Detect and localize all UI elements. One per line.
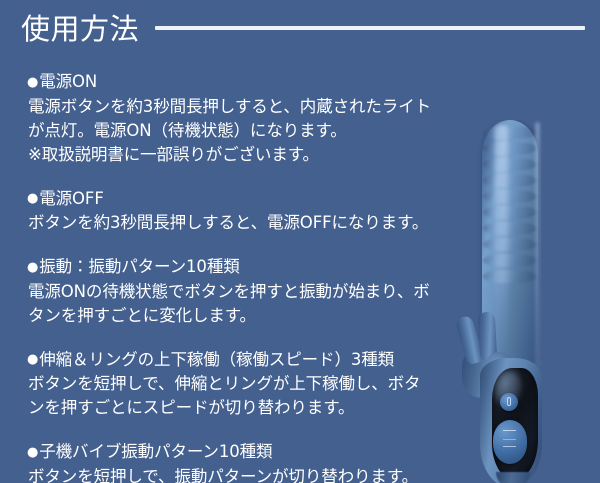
instruction-heading: 子機バイブ振動パターン10種類 (28, 440, 476, 465)
shaft-highlight (495, 124, 508, 354)
title-divider (155, 26, 585, 30)
shaft-rib (483, 222, 537, 235)
instruction-line: 電源ONの待機状態でボタンを押すと振動が始まり、ボ (28, 280, 476, 304)
mode-button-icon (493, 420, 527, 464)
shaft-rib (483, 206, 537, 219)
shaft-rib (483, 254, 537, 267)
panel-highlight (496, 372, 522, 406)
ribbed-shaft (482, 120, 538, 370)
instruction-line: ボタンを短押しで、振動パターンが切り替わります。 (28, 465, 476, 483)
shaft-edge-highlight (535, 122, 540, 367)
instruction-line: ボタンを約3秒間長押しすると、電源OFFになります。 (28, 211, 476, 235)
mode-glyph-lower (503, 446, 516, 455)
instruction-line: ボタンを短押しで、伸縮とリングが上下稼働し、ボタ (28, 372, 476, 396)
shaft-rib (483, 238, 537, 251)
instruction-list: 電源ON 電源ボタンを約3秒間長押しすると、内蔵されたライト が点灯。電源ON（… (28, 70, 476, 483)
instruction-block-power-on: 電源ON 電源ボタンを約3秒間長押しすると、内蔵されたライト が点灯。電源ON（… (28, 70, 476, 167)
instruction-line: 電源ボタンを約3秒間長押しすると、内蔵されたライト (28, 95, 476, 119)
instruction-block-stretch-ring: 伸縮＆リングの上下稼働（稼働スピード）3種類 ボタンを短押しで、伸縮とリングが上… (28, 348, 476, 421)
handle-grip (480, 358, 542, 483)
rabbit-ear-right (478, 312, 497, 361)
instruction-line: タンを押すごとに変化します。 (28, 304, 476, 328)
header: 使用方法 (0, 0, 600, 58)
usage-instructions-panel: 使用方法 電源ON 電源ボタンを約3秒間長押し (0, 0, 600, 483)
instruction-heading: 伸縮＆リングの上下稼働（稼働スピード）3種類 (28, 348, 476, 373)
instruction-line: ンを押すごとにスピードが切り替わります。 (28, 396, 476, 420)
shaft-rib (483, 174, 537, 187)
instruction-block-power-off: 電源OFF ボタンを約3秒間長押しすると、電源OFFになります。 (28, 187, 476, 236)
power-button-icon (500, 393, 518, 411)
instruction-line: ※取扱説明書に一部誤りがございます。 (28, 143, 476, 167)
shaft-rib (483, 158, 537, 171)
instruction-heading: 振動：振動パターン10種類 (28, 255, 476, 280)
instruction-block-sub-vibe: 子機バイブ振動パターン10種類 ボタンを短押しで、振動パターンが切り替わります。… (28, 440, 476, 483)
page-title: 使用方法 (21, 9, 139, 49)
instruction-heading: 電源ON (28, 70, 476, 95)
stimulator-nub (484, 352, 514, 386)
shaft-rib (483, 142, 537, 155)
shaft-rib (483, 126, 537, 139)
instruction-line: が点灯。電源ON（待機状態）になります。 (28, 119, 476, 143)
instruction-heading: 電源OFF (28, 187, 476, 212)
shaft-rib (483, 190, 537, 203)
shaft-rib (483, 270, 537, 283)
mode-glyph-upper (503, 430, 516, 440)
instruction-block-vibration: 振動：振動パターン10種類 電源ONの待機状態でボタンを押すと振動が始まり、ボ … (28, 255, 476, 328)
control-panel (492, 368, 538, 480)
handle-base (496, 472, 530, 483)
